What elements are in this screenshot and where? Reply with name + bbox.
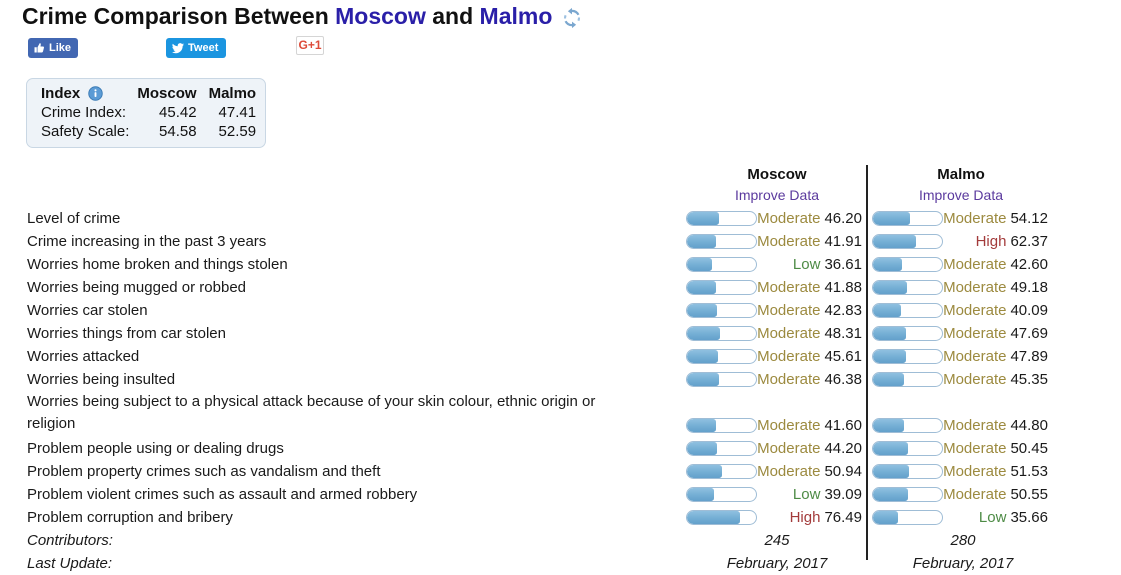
title-conjunction: and (432, 2, 473, 30)
value-text-malmo: Moderate47.89 (943, 345, 1054, 368)
value-number: 62.37 (1010, 233, 1048, 250)
value-text-malmo: Moderate50.55 (943, 483, 1054, 506)
index-table: Index Moscow Malmo Crime Index: 45.42 (29, 84, 264, 141)
level-label: Moderate (757, 417, 820, 434)
row-label: Worries being insulted (27, 368, 647, 391)
value-text-malmo: Moderate51.53 (943, 460, 1054, 483)
value-bar-moscow (686, 510, 757, 525)
value-cell-malmo: Moderate54.12 (872, 207, 1054, 230)
value-bar-fill (873, 511, 898, 524)
value-number: 40.09 (1010, 302, 1048, 319)
comparison-row: Problem corruption and briberyHigh76.49L… (0, 506, 1121, 529)
value-bar-fill (687, 419, 716, 432)
comparison-section: Moscow Improve Data Malmo Improve Data L… (0, 165, 1121, 575)
value-text-malmo: Moderate45.35 (943, 368, 1054, 391)
value-bar-moscow (686, 441, 757, 456)
value-bar-malmo (872, 510, 943, 525)
level-label: High (976, 233, 1007, 250)
value-bar-moscow (686, 418, 757, 433)
value-bar-malmo (872, 234, 943, 249)
value-bar-fill (873, 488, 908, 501)
title-prefix: Crime Comparison Between (22, 2, 329, 30)
value-bar-fill (687, 465, 722, 478)
twitter-bird-icon (172, 42, 184, 54)
comparison-row: Worries attackedModerate45.61Moderate47.… (0, 345, 1121, 368)
value-text-moscow: Moderate41.88 (757, 276, 868, 299)
value-cell-malmo: Moderate40.09 (872, 299, 1054, 322)
comparison-footer: Contributors:245280Last Update:February,… (0, 529, 1121, 575)
value-text-moscow: Low36.61 (757, 253, 868, 276)
index-row-value-malmo: 47.41 (205, 103, 265, 122)
value-cell-malmo: Moderate50.45 (872, 437, 1054, 460)
value-text-moscow: Moderate45.61 (757, 345, 868, 368)
level-label: Moderate (943, 256, 1006, 273)
value-number: 36.61 (824, 256, 862, 273)
level-label: High (790, 509, 821, 526)
value-bar-moscow (686, 280, 757, 295)
level-label: Moderate (943, 486, 1006, 503)
value-cell-malmo: Moderate50.55 (872, 483, 1054, 506)
footer-label-contributors: Contributors: (27, 529, 113, 552)
comparison-row: Level of crimeModerate46.20Moderate54.12 (0, 207, 1121, 230)
row-label: Worries attacked (27, 345, 647, 368)
value-text-moscow: Moderate46.20 (757, 207, 868, 230)
level-label: Moderate (943, 440, 1006, 457)
google-plus-button[interactable]: G+1 (296, 36, 324, 55)
footer-value-last-update-moscow: February, 2017 (686, 552, 868, 575)
value-bar-moscow (686, 487, 757, 502)
page-title: Crime Comparison Between Moscow and Malm… (22, 2, 583, 30)
value-bar-fill (873, 304, 901, 317)
index-header-label: Index (41, 85, 80, 102)
column-header-moscow: Moscow Improve Data (684, 165, 870, 205)
comparison-row: Worries things from car stolenModerate48… (0, 322, 1121, 345)
value-bar-malmo (872, 257, 943, 272)
value-cell-moscow: Moderate46.20 (686, 207, 868, 230)
value-bar-fill (873, 258, 902, 271)
level-label: Moderate (757, 233, 820, 250)
footer-row-last-update: Last Update:February, 2017February, 2017 (0, 552, 1121, 575)
footer-row-contributors: Contributors:245280 (0, 529, 1121, 552)
value-text-malmo: Moderate44.80 (943, 414, 1054, 437)
value-cell-moscow: Moderate41.91 (686, 230, 868, 253)
value-bar-malmo (872, 326, 943, 341)
level-label: Low (979, 509, 1007, 526)
value-cell-malmo: Moderate45.35 (872, 368, 1054, 391)
value-bar-malmo (872, 418, 943, 433)
value-bar-moscow (686, 326, 757, 341)
value-cell-moscow: Moderate48.31 (686, 322, 868, 345)
twitter-tweet-button[interactable]: Tweet (166, 38, 226, 58)
comparison-row: Problem people using or dealing drugsMod… (0, 437, 1121, 460)
value-number: 46.20 (824, 210, 862, 227)
title-city-1: Moscow (335, 2, 426, 30)
comparison-row: Worries being insultedModerate46.38Moder… (0, 368, 1121, 391)
value-text-malmo: Moderate50.45 (943, 437, 1054, 460)
comparison-row: Worries being subject to a physical atta… (0, 391, 1121, 437)
value-text-moscow: High76.49 (757, 506, 868, 529)
value-bar-fill (873, 212, 910, 225)
value-cell-moscow: Low39.09 (686, 483, 868, 506)
row-label: Worries being subject to a physical atta… (27, 391, 647, 435)
table-row: Safety Scale: 54.58 52.59 (29, 122, 264, 141)
value-bar-moscow (686, 257, 757, 272)
value-bar-fill (687, 281, 716, 294)
value-number: 47.89 (1010, 348, 1048, 365)
comparison-row: Problem property crimes such as vandalis… (0, 460, 1121, 483)
value-text-moscow: Moderate46.38 (757, 368, 868, 391)
footer-label-last-update: Last Update: (27, 552, 112, 575)
footer-value-contributors-moscow: 245 (686, 529, 868, 552)
level-label: Low (793, 256, 821, 273)
value-bar-malmo (872, 303, 943, 318)
level-label: Moderate (943, 348, 1006, 365)
level-label: Moderate (757, 279, 820, 296)
comparison-header: Moscow Improve Data Malmo Improve Data (0, 165, 1121, 207)
value-bar-moscow (686, 303, 757, 318)
value-number: 51.53 (1010, 463, 1048, 480)
value-bar-malmo (872, 372, 943, 387)
comparison-row: Problem violent crimes such as assault a… (0, 483, 1121, 506)
value-bar-fill (873, 327, 906, 340)
index-summary-card: Index Moscow Malmo Crime Index: 45.42 (26, 78, 266, 148)
column-header-malmo: Malmo Improve Data (868, 165, 1054, 205)
value-bar-fill (873, 350, 906, 363)
improve-data-link-moscow[interactable]: Improve Data (684, 185, 870, 205)
value-number: 45.35 (1010, 371, 1048, 388)
index-row-value-malmo: 52.59 (205, 122, 265, 141)
level-label: Moderate (943, 279, 1006, 296)
value-number: 54.12 (1010, 210, 1048, 227)
value-bar-malmo (872, 441, 943, 456)
value-bar-fill (873, 281, 907, 294)
value-cell-moscow: Moderate41.60 (686, 414, 868, 437)
value-number: 41.60 (824, 417, 862, 434)
value-bar-fill (687, 350, 718, 363)
value-bar-malmo (872, 464, 943, 479)
index-row-value-moscow: 45.42 (133, 103, 204, 122)
index-row-label: Crime Index: (29, 103, 133, 122)
value-bar-fill (687, 304, 717, 317)
value-number: 45.61 (824, 348, 862, 365)
value-number: 42.83 (824, 302, 862, 319)
value-number: 41.91 (824, 233, 862, 250)
facebook-like-button[interactable]: Like (28, 38, 78, 58)
value-bar-fill (687, 511, 740, 524)
column-name-moscow: Moscow (684, 165, 870, 185)
level-label: Moderate (943, 417, 1006, 434)
level-label: Moderate (943, 371, 1006, 388)
value-number: 39.09 (824, 486, 862, 503)
value-text-malmo: Moderate42.60 (943, 253, 1054, 276)
level-label: Moderate (943, 302, 1006, 319)
value-bar-malmo (872, 280, 943, 295)
index-col-header-index: Index (29, 84, 133, 103)
facebook-like-label: Like (49, 41, 71, 55)
index-table-body: Crime Index: 45.42 47.41 Safety Scale: 5… (29, 103, 264, 141)
value-bar-moscow (686, 464, 757, 479)
value-bar-malmo (872, 487, 943, 502)
value-cell-malmo: Moderate47.69 (872, 322, 1054, 345)
index-col-header-moscow: Moscow (133, 84, 204, 103)
value-text-moscow: Moderate44.20 (757, 437, 868, 460)
value-bar-fill (687, 442, 717, 455)
title-city-2: Malmo (480, 2, 553, 30)
footer-value-contributors-malmo: 280 (872, 529, 1054, 552)
value-bar-fill (687, 327, 720, 340)
level-label: Moderate (757, 325, 820, 342)
level-label: Moderate (943, 463, 1006, 480)
value-cell-moscow: Moderate41.88 (686, 276, 868, 299)
value-bar-fill (873, 442, 908, 455)
table-row: Crime Index: 45.42 47.41 (29, 103, 264, 122)
value-cell-malmo: Moderate49.18 (872, 276, 1054, 299)
index-row-label: Safety Scale: (29, 122, 133, 141)
value-cell-moscow: Moderate44.20 (686, 437, 868, 460)
twitter-tweet-label: Tweet (188, 41, 218, 55)
value-bar-moscow (686, 372, 757, 387)
value-bar-malmo (872, 211, 943, 226)
comparison-rows: Level of crimeModerate46.20Moderate54.12… (0, 207, 1121, 529)
level-label: Moderate (757, 463, 820, 480)
value-number: 35.66 (1010, 509, 1048, 526)
value-bar-fill (687, 258, 712, 271)
row-label: Problem corruption and bribery (27, 506, 647, 529)
comparison-row: Worries car stolenModerate42.83Moderate4… (0, 299, 1121, 322)
row-label: Crime increasing in the past 3 years (27, 230, 647, 253)
thumbs-up-icon (33, 42, 45, 54)
value-number: 46.38 (824, 371, 862, 388)
value-number: 76.49 (824, 509, 862, 526)
value-bar-fill (873, 235, 916, 248)
value-cell-malmo: Moderate42.60 (872, 253, 1054, 276)
comparison-row: Worries home broken and things stolenLow… (0, 253, 1121, 276)
level-label: Moderate (757, 440, 820, 457)
value-text-malmo: Moderate54.12 (943, 207, 1054, 230)
index-table-header-row: Index Moscow Malmo (29, 84, 264, 103)
value-text-moscow: Moderate41.91 (757, 230, 868, 253)
value-number: 42.60 (1010, 256, 1048, 273)
value-number: 44.20 (824, 440, 862, 457)
index-col-header-malmo: Malmo (205, 84, 265, 103)
level-label: Moderate (757, 348, 820, 365)
value-bar-fill (873, 419, 904, 432)
info-icon[interactable] (88, 86, 103, 101)
footer-value-last-update-malmo: February, 2017 (872, 552, 1054, 575)
comparison-row: Crime increasing in the past 3 yearsMode… (0, 230, 1121, 253)
value-number: 49.18 (1010, 279, 1048, 296)
value-text-malmo: Moderate49.18 (943, 276, 1054, 299)
value-text-malmo: Moderate47.69 (943, 322, 1054, 345)
level-label: Moderate (757, 302, 820, 319)
level-label: Moderate (757, 210, 820, 227)
value-bar-moscow (686, 211, 757, 226)
value-bar-fill (873, 465, 909, 478)
level-label: Moderate (757, 371, 820, 388)
value-cell-moscow: Moderate42.83 (686, 299, 868, 322)
comparison-row: Worries being mugged or robbedModerate41… (0, 276, 1121, 299)
value-cell-malmo: Moderate44.80 (872, 414, 1054, 437)
value-bar-fill (687, 488, 714, 501)
value-bar-fill (687, 212, 719, 225)
row-label: Problem property crimes such as vandalis… (27, 460, 647, 483)
row-label: Worries things from car stolen (27, 322, 647, 345)
value-bar-fill (687, 235, 716, 248)
value-number: 44.80 (1010, 417, 1048, 434)
value-bar-moscow (686, 349, 757, 364)
value-text-moscow: Moderate41.60 (757, 414, 868, 437)
value-text-malmo: High62.37 (943, 230, 1054, 253)
column-name-malmo: Malmo (868, 165, 1054, 185)
value-text-malmo: Low35.66 (943, 506, 1054, 529)
value-text-malmo: Moderate40.09 (943, 299, 1054, 322)
value-cell-moscow: Moderate45.61 (686, 345, 868, 368)
level-label: Moderate (943, 325, 1006, 342)
level-label: Moderate (943, 210, 1006, 227)
value-bar-fill (873, 373, 904, 386)
value-cell-malmo: Moderate51.53 (872, 460, 1054, 483)
value-number: 48.31 (824, 325, 862, 342)
value-cell-malmo: High62.37 (872, 230, 1054, 253)
value-number: 47.69 (1010, 325, 1048, 342)
row-label: Problem violent crimes such as assault a… (27, 483, 647, 506)
value-text-moscow: Moderate48.31 (757, 322, 868, 345)
value-cell-moscow: Moderate50.94 (686, 460, 868, 483)
value-number: 41.88 (824, 279, 862, 296)
value-number: 50.45 (1010, 440, 1048, 457)
value-text-moscow: Moderate42.83 (757, 299, 868, 322)
value-number: 50.94 (824, 463, 862, 480)
row-label: Worries being mugged or robbed (27, 276, 647, 299)
value-text-moscow: Low39.09 (757, 483, 868, 506)
row-label: Problem people using or dealing drugs (27, 437, 647, 460)
improve-data-link-malmo[interactable]: Improve Data (868, 185, 1054, 205)
level-label: Low (793, 486, 821, 503)
value-number: 50.55 (1010, 486, 1048, 503)
row-label: Worries car stolen (27, 299, 647, 322)
index-row-value-moscow: 54.58 (133, 122, 204, 141)
refresh-icon[interactable] (561, 7, 583, 29)
value-cell-malmo: Low35.66 (872, 506, 1054, 529)
row-label: Level of crime (27, 207, 647, 230)
google-plus-label: G+1 (298, 37, 321, 54)
value-bar-moscow (686, 234, 757, 249)
value-cell-moscow: High76.49 (686, 506, 868, 529)
row-label: Worries home broken and things stolen (27, 253, 647, 276)
value-cell-moscow: Moderate46.38 (686, 368, 868, 391)
value-text-moscow: Moderate50.94 (757, 460, 868, 483)
value-bar-fill (687, 373, 719, 386)
value-cell-moscow: Low36.61 (686, 253, 868, 276)
value-bar-malmo (872, 349, 943, 364)
value-cell-malmo: Moderate47.89 (872, 345, 1054, 368)
